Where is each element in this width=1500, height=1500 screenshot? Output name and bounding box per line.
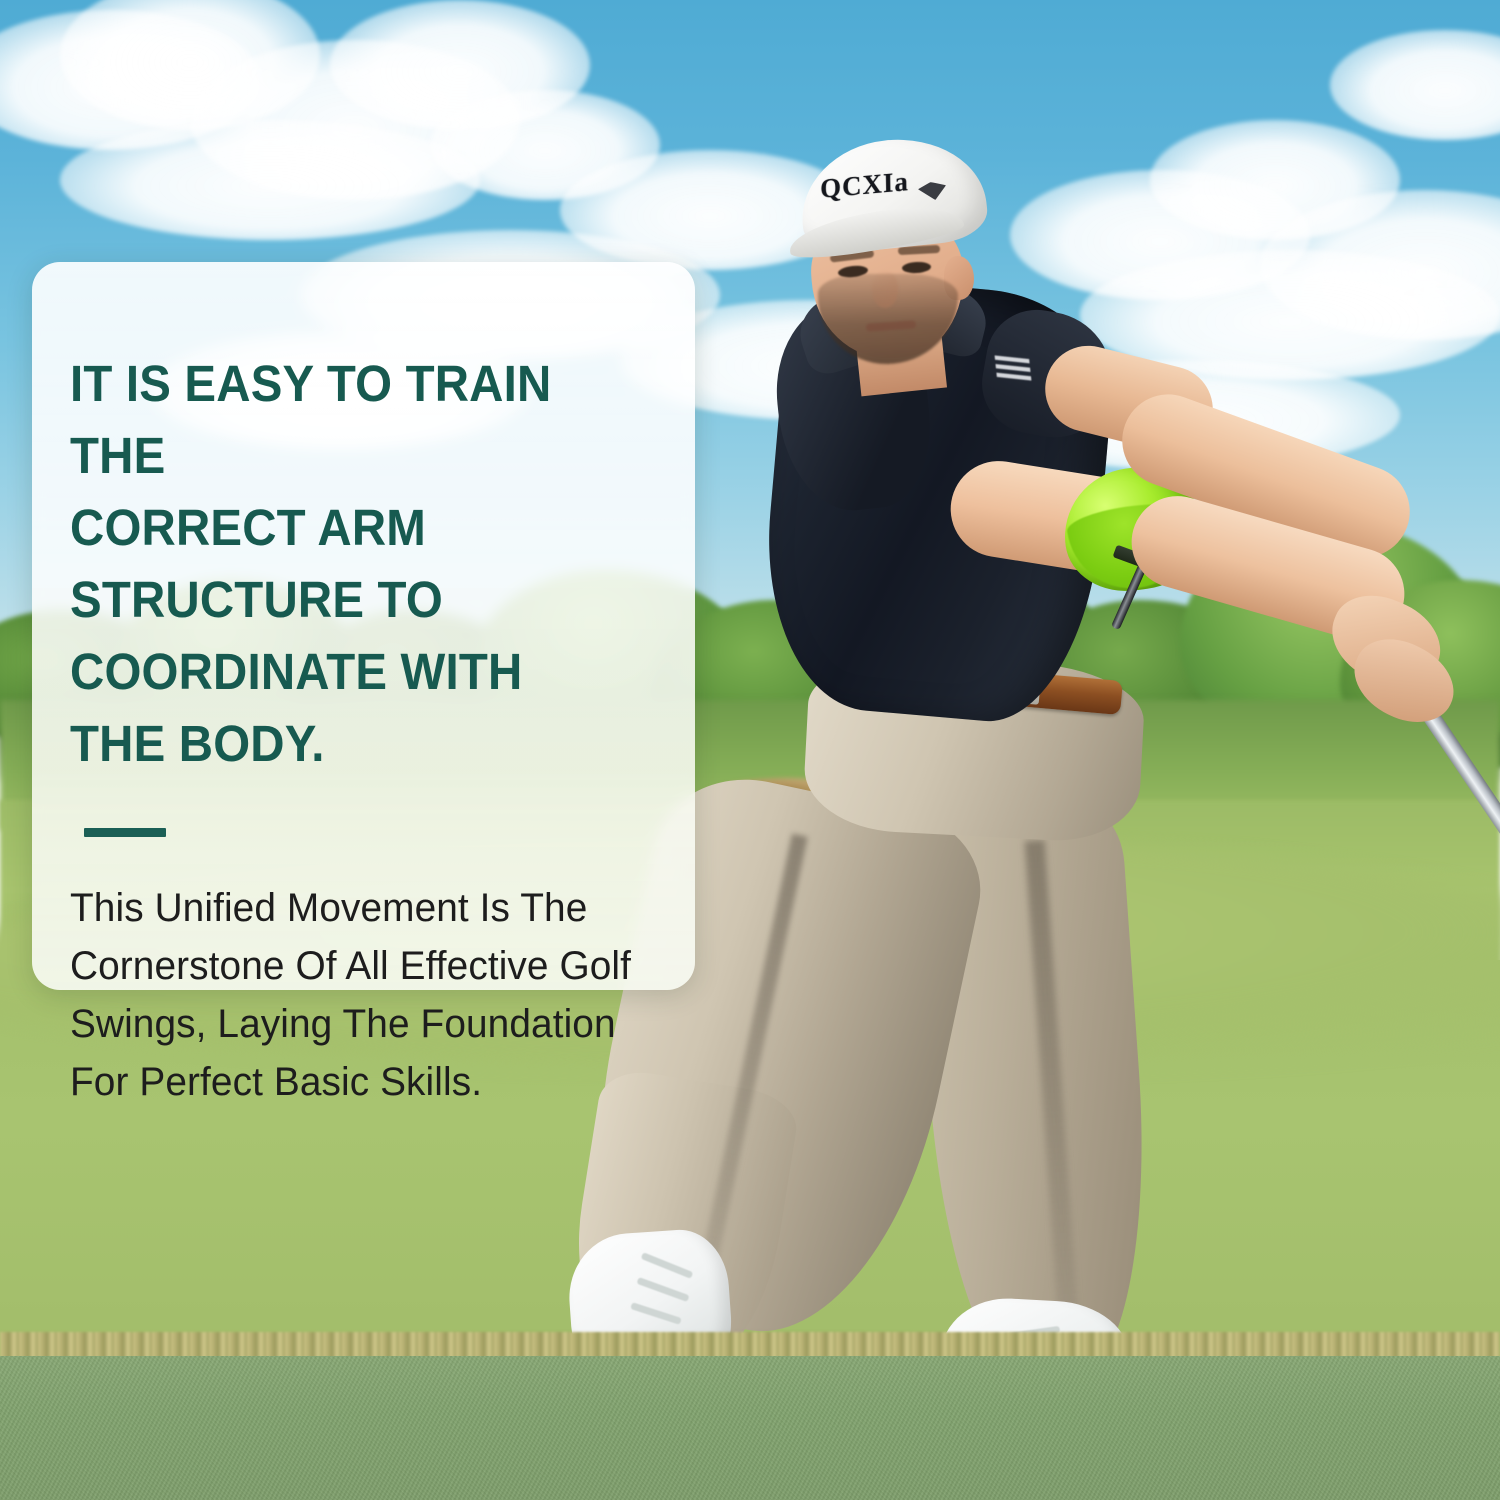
page-title: IT IS EASY TO TRAIN THE CORRECT ARM STRU… [70,348,612,780]
body-description: This Unified Movement Is The Cornerstone… [70,879,636,1111]
feature-text-card: IT IS EASY TO TRAIN THE CORRECT ARM STRU… [32,262,695,990]
golfer-nose [872,272,898,308]
shirt-brand-logo [994,348,1032,387]
product-feature-image: QCXIa IT IS EASY TO TRAIN THE CORRECT AR… [0,0,1500,1500]
practice-turf-mat [0,1356,1500,1500]
accent-divider [84,828,166,837]
